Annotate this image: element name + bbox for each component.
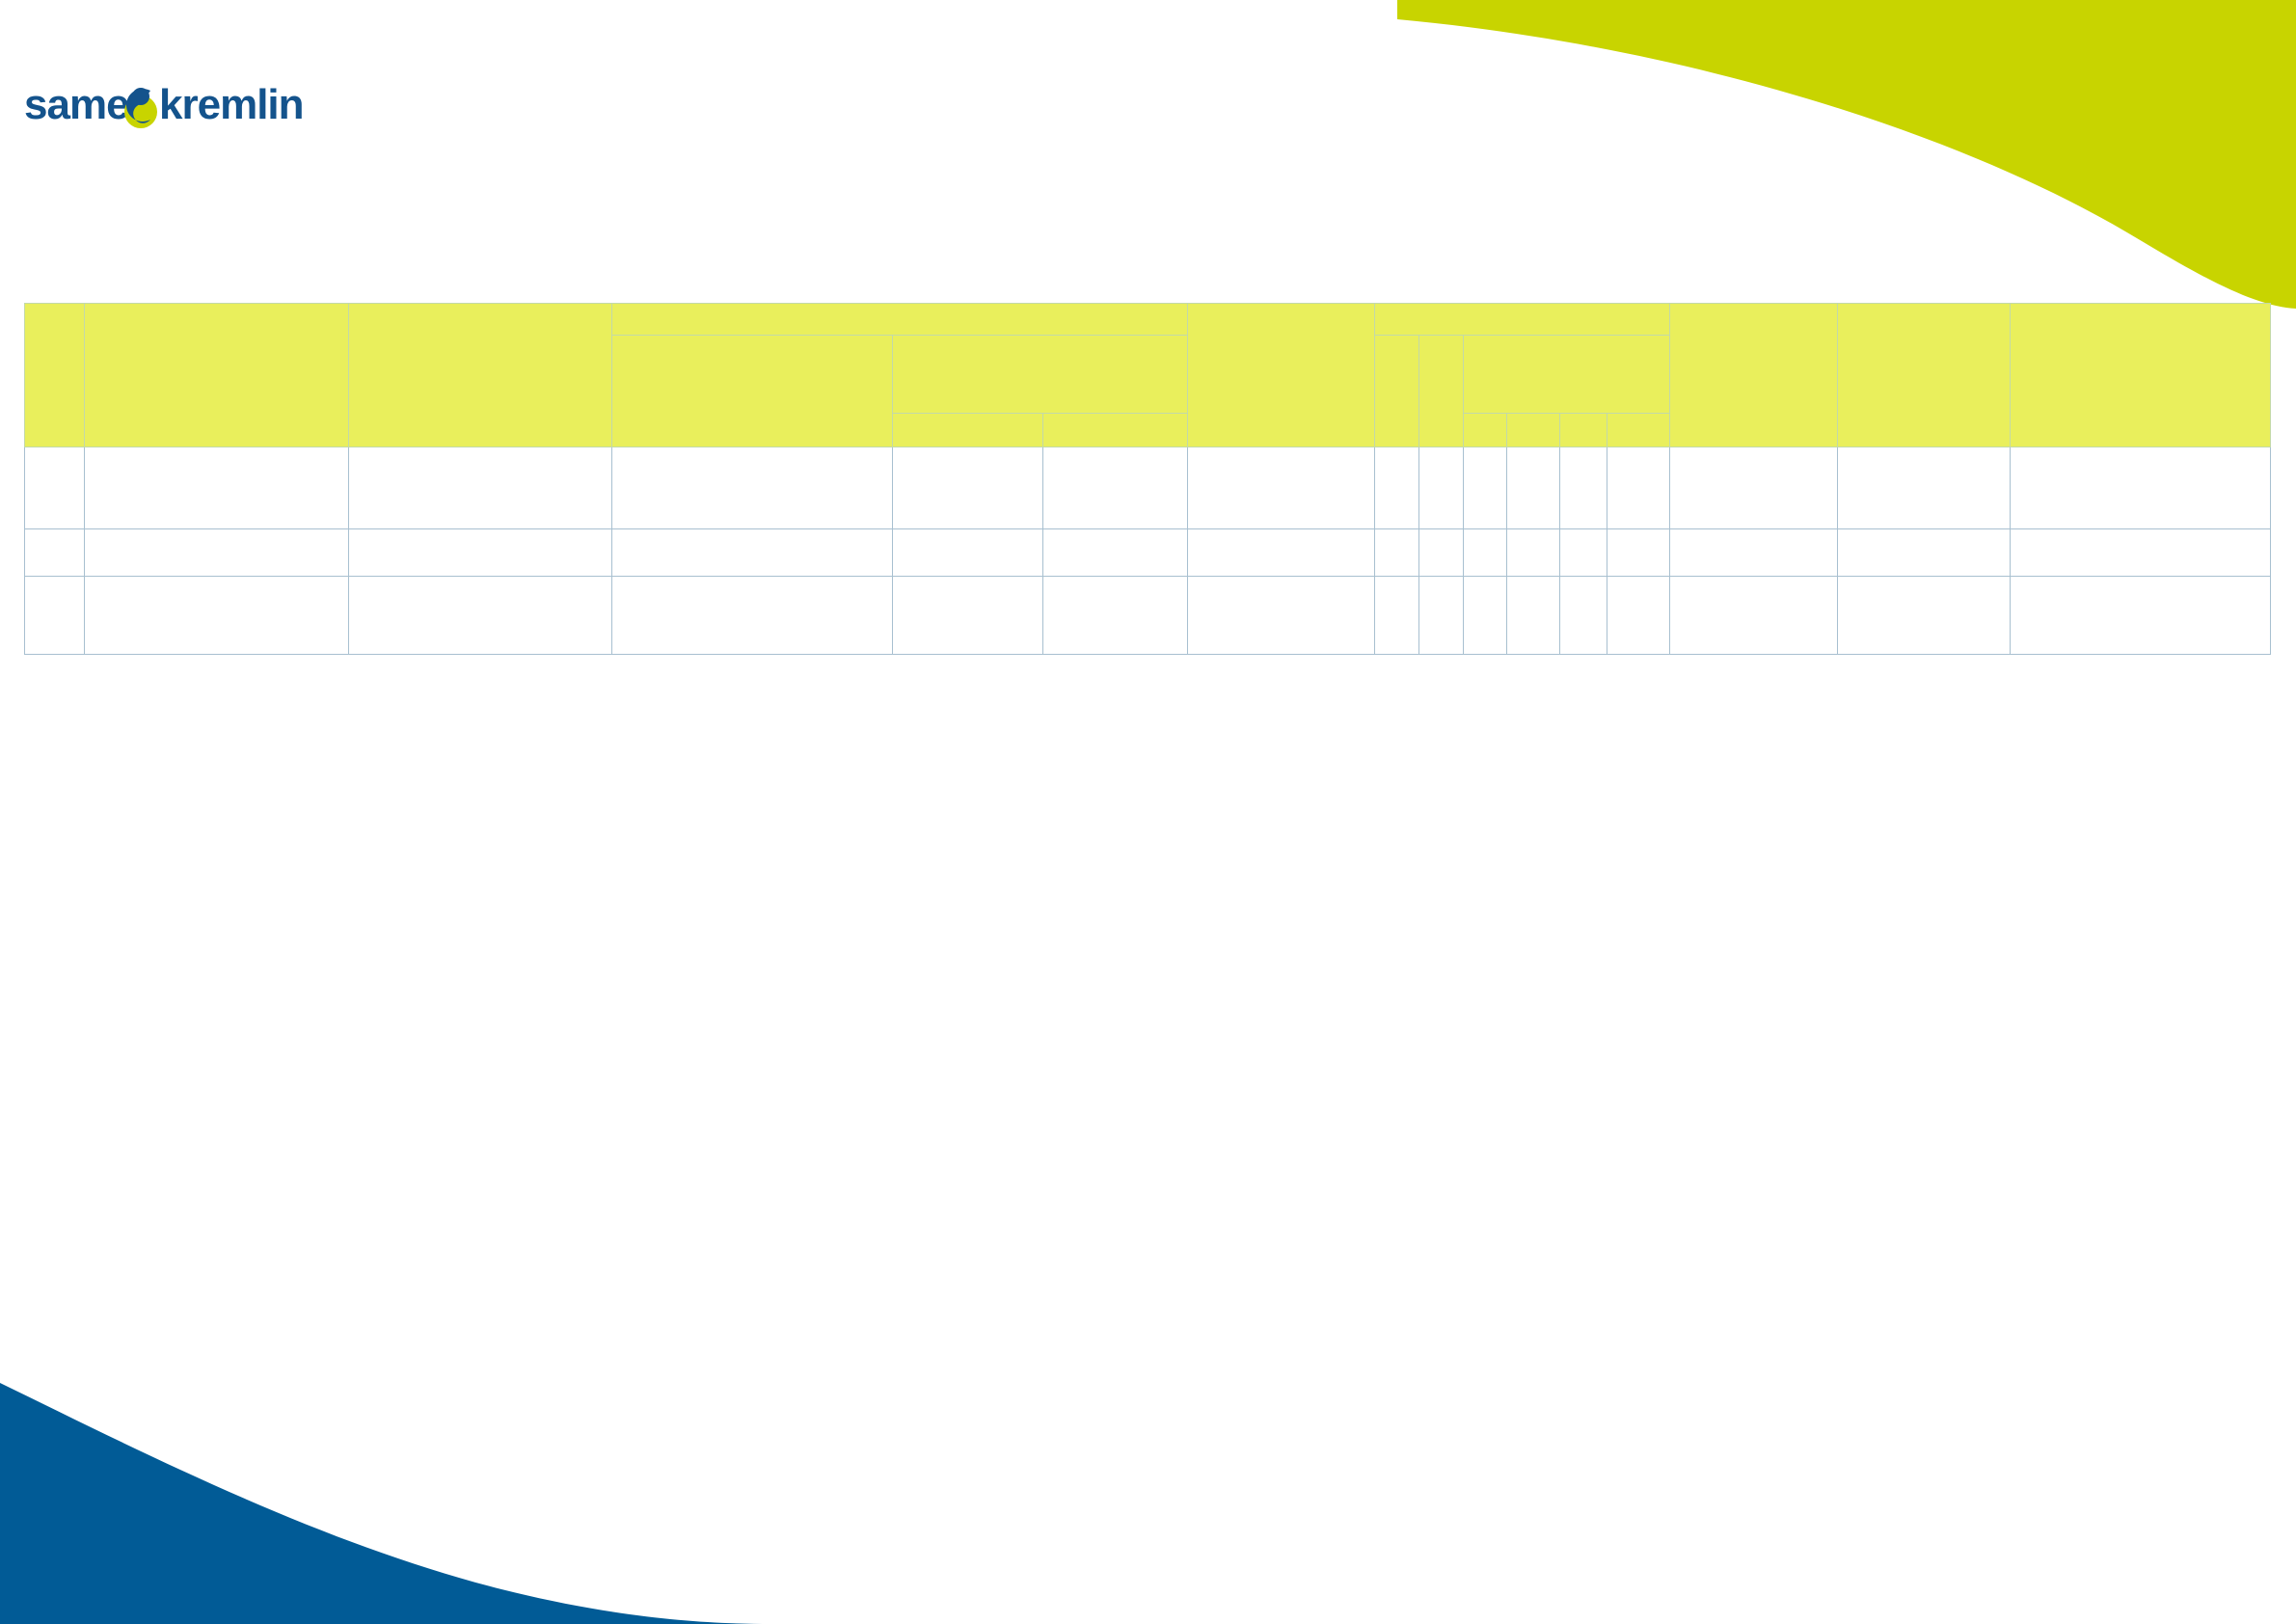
cell-n4[interactable]: [1507, 577, 1560, 655]
header-numeric-second[interactable]: [1419, 336, 1464, 447]
cell-sub-a[interactable]: [892, 447, 1043, 529]
brand-logo[interactable]: sames kremlin: [24, 75, 313, 135]
cell-n1[interactable]: [1375, 529, 1419, 577]
header-numeric-lead[interactable]: [1375, 336, 1419, 447]
header-n3[interactable]: [1463, 414, 1507, 447]
cell-option[interactable]: [1670, 577, 1838, 655]
cell-n1[interactable]: [1375, 577, 1419, 655]
cell-n3[interactable]: [1463, 529, 1507, 577]
cell-description[interactable]: [349, 447, 611, 529]
cell-description[interactable]: [349, 577, 611, 655]
cell-model[interactable]: [85, 529, 349, 577]
cell-feature[interactable]: [611, 577, 892, 655]
spec-table-container: [24, 303, 2271, 655]
header-group-numeric[interactable]: [1375, 304, 1670, 336]
header-feature-sub-band[interactable]: [892, 336, 1187, 414]
cell-index[interactable]: [25, 577, 85, 655]
cell-sub-a[interactable]: [892, 529, 1043, 577]
header-index[interactable]: [25, 304, 85, 447]
page-root: sames kremlin: [0, 0, 2296, 1624]
cell-feature[interactable]: [611, 447, 892, 529]
cell-n3[interactable]: [1463, 447, 1507, 529]
cell-n2[interactable]: [1419, 447, 1464, 529]
cell-index[interactable]: [25, 447, 85, 529]
cell-n6[interactable]: [1607, 447, 1669, 529]
spec-table-body: [25, 447, 2271, 655]
cell-notes[interactable]: [2011, 529, 2271, 577]
cell-n5[interactable]: [1560, 447, 1607, 529]
cell-description[interactable]: [349, 529, 611, 577]
cell-index[interactable]: [25, 529, 85, 577]
cell-n3[interactable]: [1463, 577, 1507, 655]
cell-sub-c[interactable]: [1187, 447, 1375, 529]
cell-option[interactable]: [1670, 529, 1838, 577]
cell-feature[interactable]: [611, 529, 892, 577]
cell-sub-a[interactable]: [892, 577, 1043, 655]
cell-n2[interactable]: [1419, 529, 1464, 577]
top-right-swoosh-decoration: [1370, 0, 2296, 309]
header-certification[interactable]: [1837, 304, 2011, 447]
logo-wordmark-kremlin: kremlin: [159, 81, 304, 128]
cell-sub-b[interactable]: [1043, 447, 1187, 529]
cell-n1[interactable]: [1375, 447, 1419, 529]
cell-n5[interactable]: [1560, 529, 1607, 577]
cell-sub-c[interactable]: [1187, 529, 1375, 577]
cell-option[interactable]: [1670, 447, 1838, 529]
cell-certification[interactable]: [1837, 529, 2011, 577]
cell-notes[interactable]: [2011, 447, 2271, 529]
spec-table: [24, 303, 2271, 655]
sames-kremlin-logo-svg: sames kremlin: [24, 75, 313, 135]
cell-n2[interactable]: [1419, 577, 1464, 655]
header-description[interactable]: [349, 304, 611, 447]
table-row[interactable]: [25, 577, 2271, 655]
cell-certification[interactable]: [1837, 577, 2011, 655]
cell-n6[interactable]: [1607, 577, 1669, 655]
header-sub-a[interactable]: [892, 414, 1043, 447]
bottom-left-swoosh-decoration: [0, 1344, 771, 1624]
header-n5[interactable]: [1560, 414, 1607, 447]
header-sub-b[interactable]: [1043, 414, 1187, 447]
header-numeric-sub-band[interactable]: [1463, 336, 1670, 414]
cell-model[interactable]: [85, 447, 349, 529]
cell-notes[interactable]: [2011, 577, 2271, 655]
header-model[interactable]: [85, 304, 349, 447]
table-row[interactable]: [25, 529, 2271, 577]
header-n6[interactable]: [1607, 414, 1669, 447]
cell-n5[interactable]: [1560, 577, 1607, 655]
header-feature[interactable]: [611, 336, 892, 447]
header-sub-c[interactable]: [1187, 304, 1375, 447]
header-notes[interactable]: [2011, 304, 2271, 447]
spec-table-head: [25, 304, 2271, 447]
cell-n4[interactable]: [1507, 529, 1560, 577]
cell-n6[interactable]: [1607, 529, 1669, 577]
header-group-features[interactable]: [611, 304, 1187, 336]
header-option[interactable]: [1670, 304, 1838, 447]
cell-model[interactable]: [85, 577, 349, 655]
cell-sub-c[interactable]: [1187, 577, 1375, 655]
header-row-groups: [25, 304, 2271, 336]
cell-certification[interactable]: [1837, 447, 2011, 529]
header-n4[interactable]: [1507, 414, 1560, 447]
cell-sub-b[interactable]: [1043, 529, 1187, 577]
cell-sub-b[interactable]: [1043, 577, 1187, 655]
table-row[interactable]: [25, 447, 2271, 529]
cell-n4[interactable]: [1507, 447, 1560, 529]
